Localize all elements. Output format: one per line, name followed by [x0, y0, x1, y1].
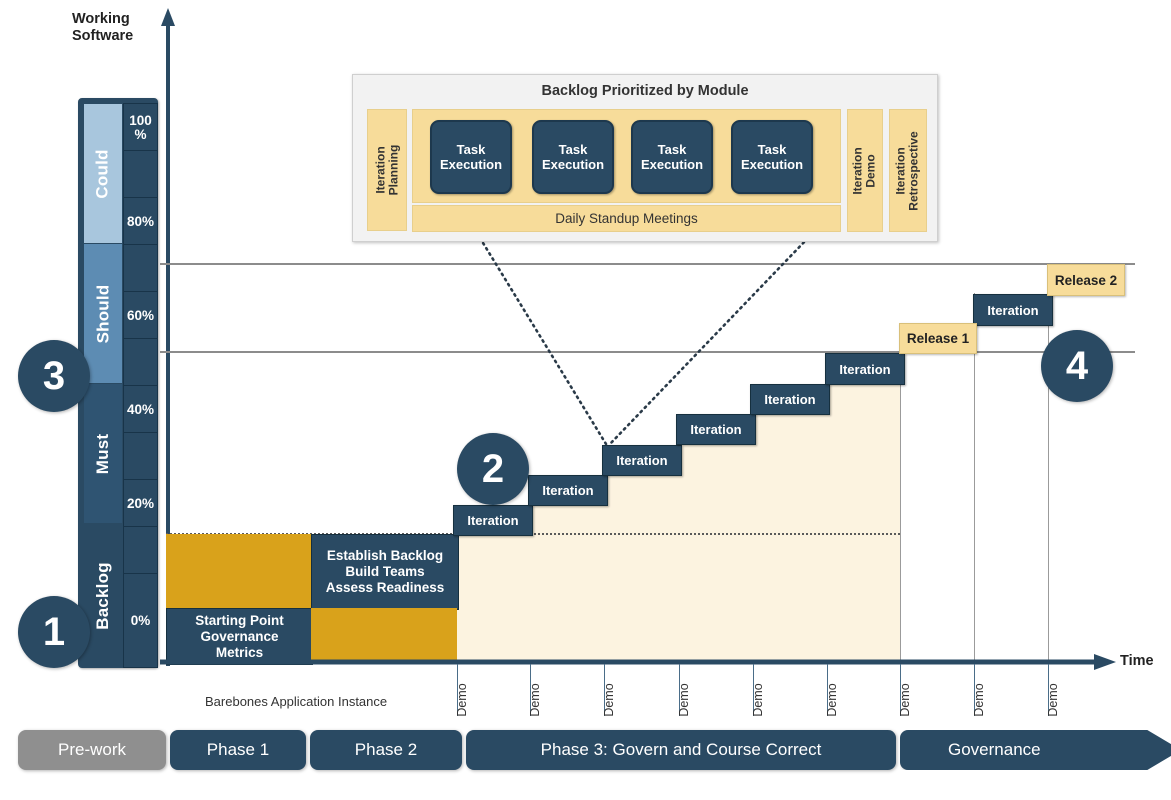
iteration-block-7: Iteration: [973, 294, 1053, 326]
prework-gold-upper-left: [166, 534, 311, 608]
y-tick-100: 100 %: [123, 103, 158, 152]
y-tick-40: 40%: [123, 385, 158, 434]
step-area-4: [679, 443, 754, 663]
iteration-block-6: Iteration: [825, 353, 905, 385]
phase-3[interactable]: Phase 3: Govern and Course Correct: [466, 730, 896, 770]
moscow-band-label: Could: [93, 149, 113, 198]
demo-label-7: Demo: [898, 670, 912, 730]
task-execution-box-2: Task Execution: [532, 120, 614, 194]
iteration-demo-strip: Iteration Demo: [847, 109, 883, 232]
step-badge-3: 3: [18, 340, 90, 412]
demo-label-2: Demo: [528, 670, 542, 730]
y-tick-blank-10: [123, 526, 158, 575]
moscow-scale: Could Should Must Backlog 100 % 80% 60% …: [78, 98, 158, 668]
demo-label-3: Demo: [602, 670, 616, 730]
y-axis-title: Working Software: [72, 11, 164, 45]
step-badge-1: 1: [18, 596, 90, 668]
moscow-band-could: Could: [83, 103, 123, 245]
step-area-5: [753, 412, 828, 663]
demo-label-4: Demo: [677, 670, 691, 730]
demo-label-6: Demo: [825, 670, 839, 730]
y-tick-0: 0%: [123, 573, 158, 668]
phase-pre-work[interactable]: Pre-work: [18, 730, 166, 770]
step-area-3: [604, 473, 680, 663]
moscow-band-label: Backlog: [93, 562, 113, 630]
y-tick-blank-90: [123, 150, 158, 199]
moscow-band-label: Must: [93, 434, 113, 474]
moscow-band-should: Should: [83, 243, 123, 385]
demo-label-9: Demo: [1046, 670, 1060, 730]
release-2-label: Release 2: [1047, 264, 1125, 296]
moscow-band-backlog: Backlog: [83, 523, 123, 668]
y-tick-20: 20%: [123, 479, 158, 528]
iteration-block-3: Iteration: [602, 445, 682, 476]
demo-label-8: Demo: [972, 670, 986, 730]
prework-upper-block: Establish Backlog Build Teams Assess Rea…: [311, 534, 459, 610]
iteration-block-4: Iteration: [676, 414, 756, 445]
iteration-demo-label: Iteration Demo: [852, 147, 878, 194]
iteration-retrospective-strip: Iteration Retrospective: [889, 109, 927, 232]
step-badge-4: 4: [1041, 330, 1113, 402]
y-tick-blank-70: [123, 244, 158, 293]
step-badge-2: 2: [457, 433, 529, 505]
demo-label-5: Demo: [751, 670, 765, 730]
iteration-planning-label: Iteration Planning: [374, 145, 400, 196]
iteration-block-5: Iteration: [750, 384, 830, 415]
y-tick-80: 80%: [123, 197, 158, 246]
daily-standup-band: Daily Standup Meetings: [412, 205, 841, 232]
reference-line-release1: [160, 351, 1135, 353]
phase-2[interactable]: Phase 2: [310, 730, 462, 770]
iteration-detail-panel: Backlog Prioritized by Module Iteration …: [352, 74, 938, 242]
phase-governance[interactable]: Governance: [900, 730, 1171, 770]
iteration-block-1: Iteration: [453, 505, 533, 536]
task-execution-box-1: Task Execution: [430, 120, 512, 194]
step-area-2: [530, 503, 605, 663]
y-tick-60: 60%: [123, 291, 158, 340]
task-execution-box-4: Task Execution: [731, 120, 813, 194]
release-1-label: Release 1: [899, 323, 977, 354]
iteration-block-2: Iteration: [528, 475, 608, 506]
phase-1[interactable]: Phase 1: [170, 730, 306, 770]
iteration-retrospective-label: Iteration Retrospective: [895, 131, 921, 210]
reference-line-release2: [160, 263, 1135, 265]
y-tick-blank-30: [123, 432, 158, 481]
moscow-band-label: Should: [93, 285, 113, 344]
column-separator-7: [900, 352, 901, 663]
moscow-band-must: Must: [83, 383, 123, 525]
iteration-planning-strip: Iteration Planning: [367, 109, 407, 231]
x-axis-title: Time: [1120, 653, 1154, 669]
diagram-canvas: Working Software Could Should Must Backl…: [0, 0, 1171, 800]
panel-title: Backlog Prioritized by Module: [353, 83, 937, 99]
step-area-6: [827, 382, 901, 663]
task-execution-box-3: Task Execution: [631, 120, 713, 194]
y-tick-blank-50: [123, 338, 158, 387]
baseline-caption: Barebones Application Instance: [205, 692, 485, 710]
step-area-1: [457, 533, 531, 663]
